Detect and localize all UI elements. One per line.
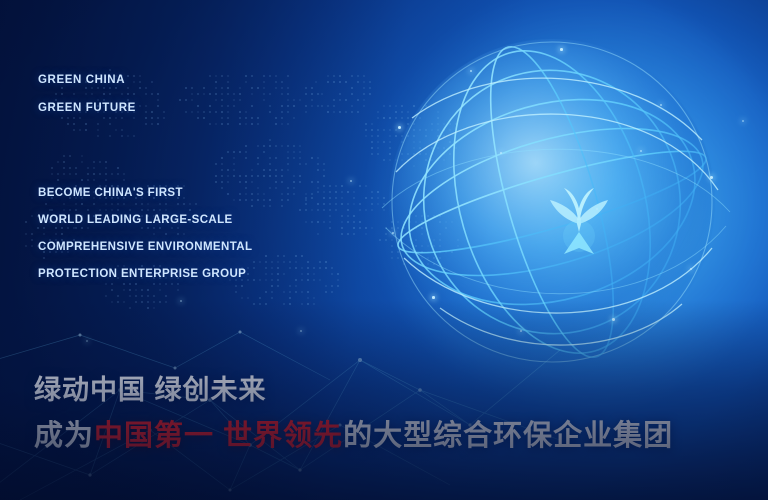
tagline-line-1: GREEN CHINA xyxy=(38,74,125,86)
background-bottom-fade xyxy=(0,300,768,500)
tagline-line-2: GREEN FUTURE xyxy=(38,102,136,114)
subtitle-line-1: BECOME CHINA'S FIRST xyxy=(38,187,183,199)
subtitle-line-2: WORLD LEADING LARGE-SCALE xyxy=(38,214,233,226)
hero-banner: GREEN CHINA GREEN FUTURE BECOME CHINA'S … xyxy=(0,0,768,500)
subtitle-line-4: PROTECTION ENTERPRISE GROUP xyxy=(38,268,246,280)
subtitle-line-3: COMPREHENSIVE ENVIRONMENTAL xyxy=(38,241,252,253)
sprout-leaf-icon xyxy=(534,162,624,272)
